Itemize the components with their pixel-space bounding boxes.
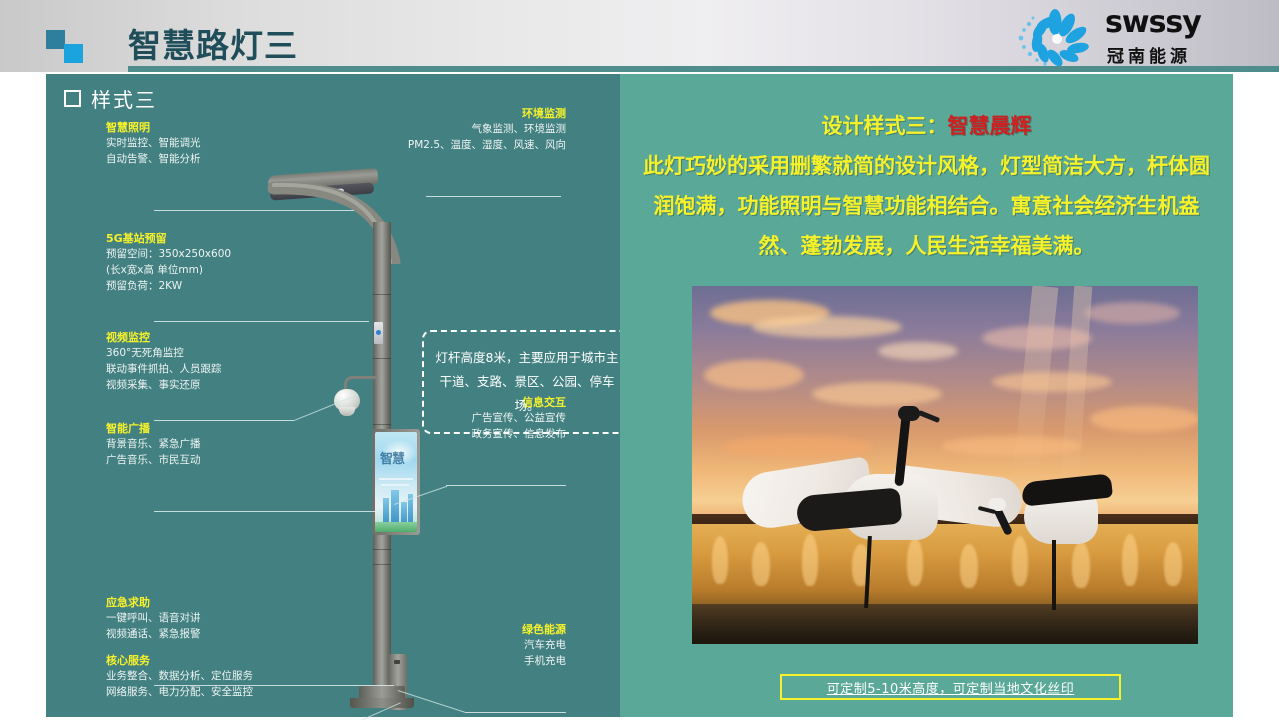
- annotation-5g-base-station: 5G基站预留 预留空间：350x250x600 (长x宽x高 单位mm) 预留负…: [106, 232, 231, 294]
- reed-tuft: [752, 542, 770, 586]
- annotation-video-monitoring: 视频监控 360°无死角监控 联动事件抓拍、人员跟踪 视频采集、事实还原: [106, 331, 222, 393]
- annotation-smart-broadcast: 智能广播 背景音乐、紧急广播 广告音乐、市民互动: [106, 422, 201, 468]
- square-bullet-icon: [64, 90, 81, 107]
- annotation-green-energy: 绿色能源 汽车充电 手机充电: [396, 623, 566, 669]
- height-callout-text: 灯杆高度8米，主要应用于城市主干道、支路、景区、公园、停车场。: [424, 346, 630, 418]
- reed-tuft: [907, 538, 923, 586]
- annotation-line: 360°无死角监控: [106, 345, 222, 361]
- annotation-title: 5G基站预留: [106, 232, 231, 246]
- petal-flower-logo-icon: [1009, 8, 1101, 66]
- annotation-line: 联动事件抓拍、人员跟踪: [106, 361, 222, 377]
- cloud-8: [1090, 406, 1198, 432]
- annotation-emergency-help: 应急求助 一键呼叫、语音对讲 视频通话、紧急报警: [106, 596, 201, 642]
- cloud-11: [878, 342, 958, 360]
- ad-screen-frame: 智慧: [372, 429, 420, 535]
- cloud-7: [1084, 302, 1180, 324]
- annotation-core-service: 核心服务 业务整合、数据分析、定位服务 网络服务、电力分配、安全监控: [106, 654, 253, 700]
- reed-tuft: [1164, 542, 1182, 586]
- cloud-5: [982, 326, 1092, 350]
- logo-brand-text: swssy: [1105, 8, 1201, 38]
- header-square-dark-icon: [46, 30, 65, 49]
- style-heading: 样式三: [64, 84, 157, 113]
- cloud-2: [752, 316, 902, 338]
- camera-base: [339, 407, 355, 416]
- annotation-line: 背景音乐、紧急广播: [106, 436, 201, 452]
- pole-seam-2: [373, 358, 391, 359]
- pole-seam-5: [373, 564, 391, 565]
- 5g-indicator-dot: [376, 330, 381, 335]
- annotation-line: 自动告警、智能分析: [106, 151, 201, 167]
- height-callout-box: 灯杆高度8米，主要应用于城市主干道、支路、景区、公园、停车场。: [422, 330, 632, 434]
- reed-tuft: [1072, 542, 1090, 588]
- annotation-title: 应急求助: [106, 596, 201, 610]
- annotation-line: 广告音乐、市民互动: [106, 452, 201, 468]
- photo-water: [692, 604, 1198, 644]
- slide-header: 智慧路灯三: [0, 0, 1279, 72]
- annotation-title: 环境监测: [356, 107, 566, 121]
- annotation-line: 视频采集、事实还原: [106, 377, 222, 393]
- design-style-highlight: 智慧晨辉: [948, 114, 1032, 138]
- annotation-line: PM2.5、温度、湿度、风速、风向: [356, 137, 566, 153]
- crane2-leg: [1052, 540, 1056, 610]
- reed-tuft: [1012, 536, 1028, 586]
- pole-seam-1: [373, 294, 391, 295]
- style-heading-label: 样式三: [91, 84, 157, 113]
- leader-line-energy: [466, 712, 566, 713]
- annotation-title: 智慧照明: [106, 121, 201, 135]
- annotation-environment-monitoring: 环境监测 气象监测、环境监测 PM2.5、温度、湿度、风速、风向: [356, 107, 566, 153]
- left-diagram-panel: 样式三 智慧: [46, 74, 620, 717]
- cloud-4: [812, 382, 942, 406]
- annotation-line: 手机充电: [396, 653, 566, 669]
- lamp-base-lower: [350, 698, 414, 708]
- screen-poster-text: 智慧: [380, 448, 404, 467]
- screen-line-1: [379, 478, 413, 480]
- annotation-line: 汽车充电: [396, 637, 566, 653]
- annotation-title: 智能广播: [106, 422, 201, 436]
- pole-seam-4: [373, 549, 391, 550]
- ad-screen-display: 智慧: [375, 432, 417, 532]
- cloud-9: [722, 436, 872, 458]
- header-square-light-icon: [64, 44, 83, 63]
- annotation-smart-lighting: 智慧照明 实时监控、智能调光 自动告警、智能分析: [106, 121, 201, 167]
- design-style-prefix: 设计样式三：: [822, 114, 948, 138]
- reed-tuft: [960, 544, 978, 588]
- customization-caption-text: 可定制5-10米高度，可定制当地文化丝印: [827, 678, 1075, 697]
- screen-ground: [375, 522, 417, 532]
- annotation-line: 网络服务、电力分配、安全监控: [106, 684, 253, 700]
- screen-building-2: [391, 490, 399, 524]
- leader-line-broadcast: [154, 511, 376, 512]
- logo-sub-text: 冠南能源: [1107, 42, 1191, 67]
- slide-root: 智慧路灯三: [0, 0, 1279, 720]
- reed-tuft: [712, 536, 728, 584]
- leader-line-info: [446, 485, 566, 486]
- leader-line-lighting: [154, 210, 354, 211]
- annotation-line: 实时监控、智能调光: [106, 135, 201, 151]
- reed-tuft: [1122, 534, 1138, 586]
- leader-line-5g: [154, 321, 369, 322]
- cloud-6: [992, 372, 1112, 392]
- annotation-line: 业务整合、数据分析、定位服务: [106, 668, 253, 684]
- annotation-line: 视频通话、紧急报警: [106, 626, 201, 642]
- annotation-line: 气象监测、环境监测: [356, 121, 566, 137]
- annotation-title: 核心服务: [106, 654, 253, 668]
- crane-head: [898, 406, 920, 421]
- page-title: 智慧路灯三: [128, 19, 298, 67]
- cloud-3: [704, 360, 804, 390]
- crane-sunset-photo: [692, 286, 1198, 644]
- annotation-line: 一键呼叫、语音对讲: [106, 610, 201, 626]
- leader-line-video: [154, 420, 294, 421]
- annotation-line: 预留负荷：2KW: [106, 278, 231, 294]
- annotation-title: 绿色能源: [396, 623, 566, 637]
- cloud-10: [942, 436, 1082, 456]
- reed-tuft: [802, 534, 818, 586]
- design-style-title: 设计样式三：智慧晨辉: [620, 110, 1233, 140]
- annotation-title: 视频监控: [106, 331, 222, 345]
- design-description-text: 此灯巧妙的采用删繁就简的设计风格，灯型简洁大方，杆体圆润饱满，功能照明与智慧功能…: [634, 146, 1219, 266]
- annotation-line: (长x宽x高 单位mm): [106, 262, 231, 278]
- screen-building-3: [401, 502, 407, 524]
- screen-line-2: [381, 484, 409, 486]
- screen-building-1: [383, 498, 389, 524]
- customization-caption-box: 可定制5-10米高度，可定制当地文化丝印: [780, 674, 1121, 700]
- leader-line-environment: [426, 196, 561, 197]
- annotation-line: 预留空间：350x250x600: [106, 246, 231, 262]
- company-logo: swssy 冠南能源: [1009, 6, 1259, 68]
